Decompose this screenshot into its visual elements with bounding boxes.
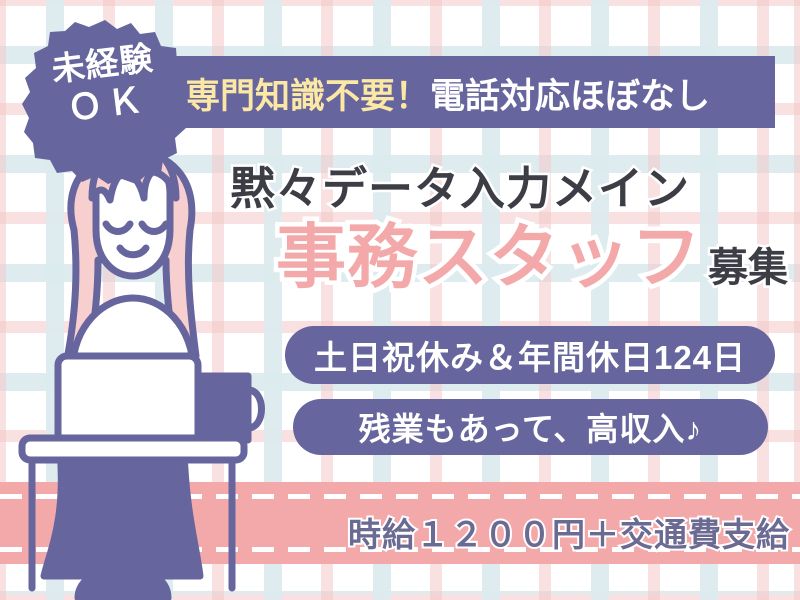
top-banner-highlight: 専門知識不要！ <box>185 68 430 119</box>
main-headline-title: 事務スタッフ <box>276 218 702 296</box>
benefit-pill-holidays: 土日祝休み＆年間休日124日 <box>285 326 775 384</box>
wage-ribbon-text: 時給１２００円＋交通費支給 <box>0 508 790 556</box>
main-headline: 事務スタッフ募集 <box>0 222 788 292</box>
job-advertisement-banner: 専門知識不要！電話対応ほぼなし 未経験 ＯＫ 黙々データ入力メイン 事務スタッフ… <box>0 0 800 600</box>
main-headline-suffix: 募集 <box>708 246 788 290</box>
benefit-pill-overtime: 残業もあって、高収入♪ <box>293 399 768 455</box>
top-banner-rest: 電話対応ほぼなし <box>430 68 710 119</box>
sub-headline: 黙々データ入力メイン <box>0 152 690 217</box>
top-banner-text: 専門知識不要！電話対応ほぼなし <box>185 62 770 124</box>
